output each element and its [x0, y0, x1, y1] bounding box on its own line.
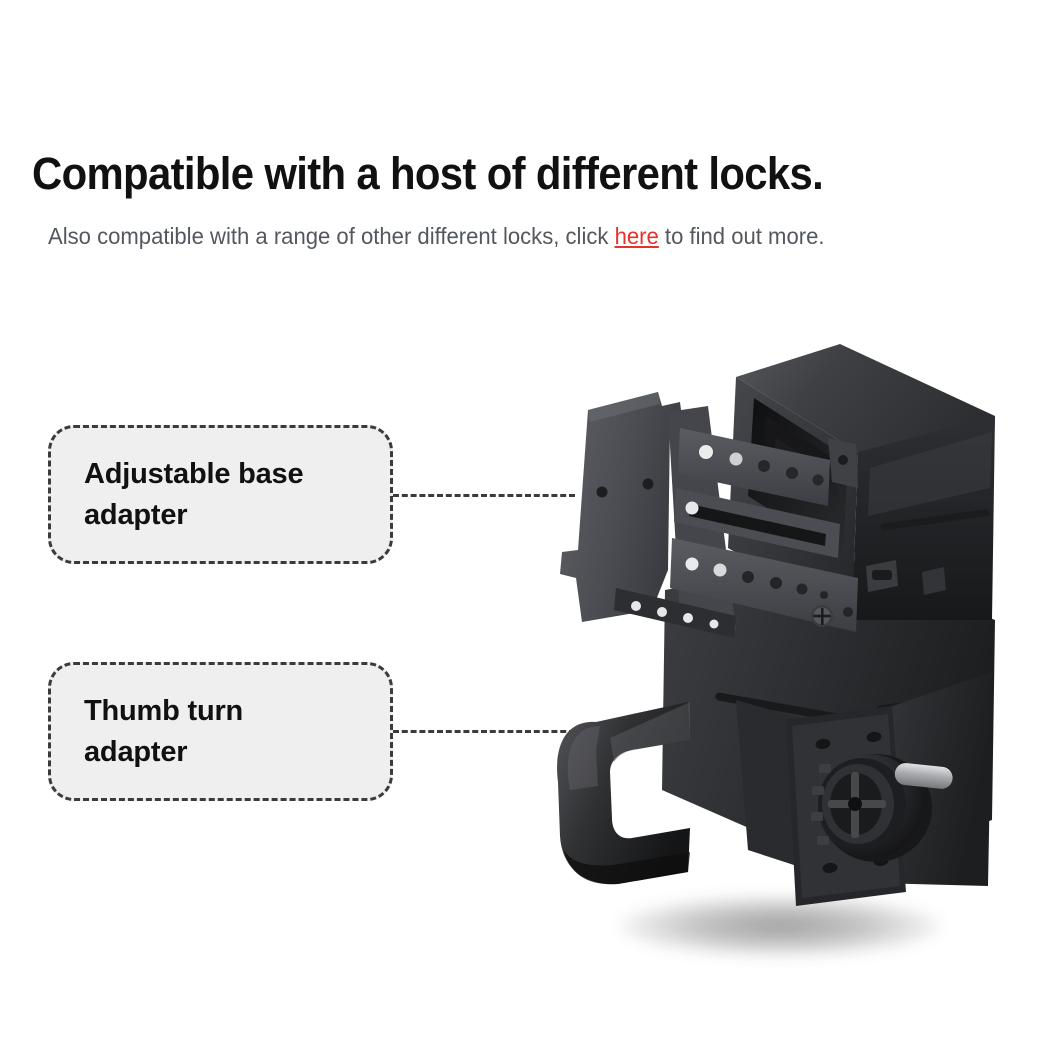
phillips-screw	[811, 605, 833, 627]
callout-label: Thumb turn adapter	[51, 691, 243, 773]
here-link[interactable]: here	[615, 223, 659, 249]
callout-adjustable-base-adapter[interactable]: Adjustable base adapter	[48, 425, 393, 564]
subtitle-text-after: to find out more.	[659, 223, 825, 249]
product-illustration	[540, 320, 1010, 950]
callout-label: Adjustable base adapter	[51, 454, 303, 536]
page-title: Compatible with a host of different lock…	[32, 148, 823, 200]
subtitle-text-before: Also compatible with a range of other di…	[48, 223, 615, 249]
callout-thumb-turn-adapter[interactable]: Thumb turn adapter	[48, 662, 393, 801]
product-feature-panel: Compatible with a host of different lock…	[0, 0, 1049, 1049]
page-subtitle: Also compatible with a range of other di…	[48, 223, 824, 250]
